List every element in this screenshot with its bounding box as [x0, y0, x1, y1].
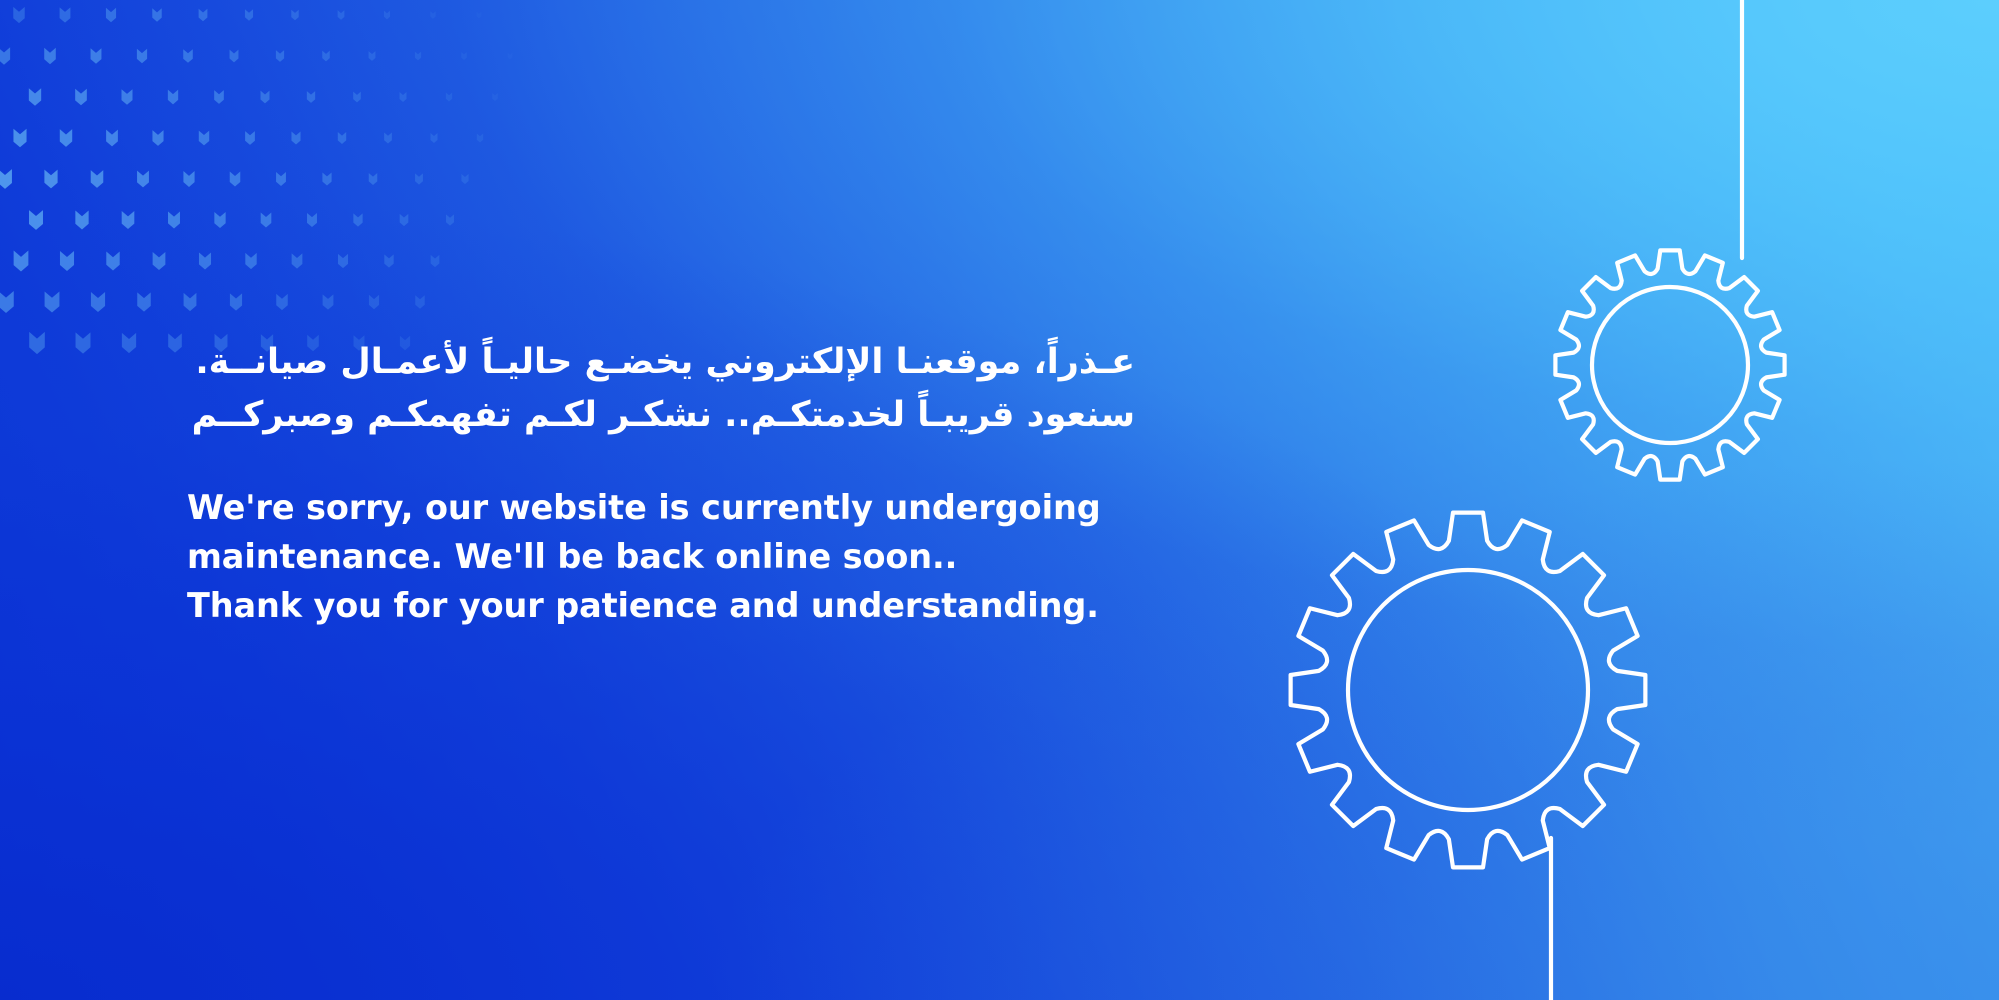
maintenance-message-english: We're sorry, our website is currently un…	[187, 484, 1187, 631]
message-block: عـذراً، موقعنـا الإلكتروني يخضـع حاليـاً…	[187, 336, 1187, 631]
maintenance-message-arabic: عـذراً، موقعنـا الإلكتروني يخضـع حاليـاً…	[187, 336, 1135, 442]
maintenance-page: عـذراً، موقعنـا الإلكتروني يخضـع حاليـاً…	[0, 0, 1999, 1000]
